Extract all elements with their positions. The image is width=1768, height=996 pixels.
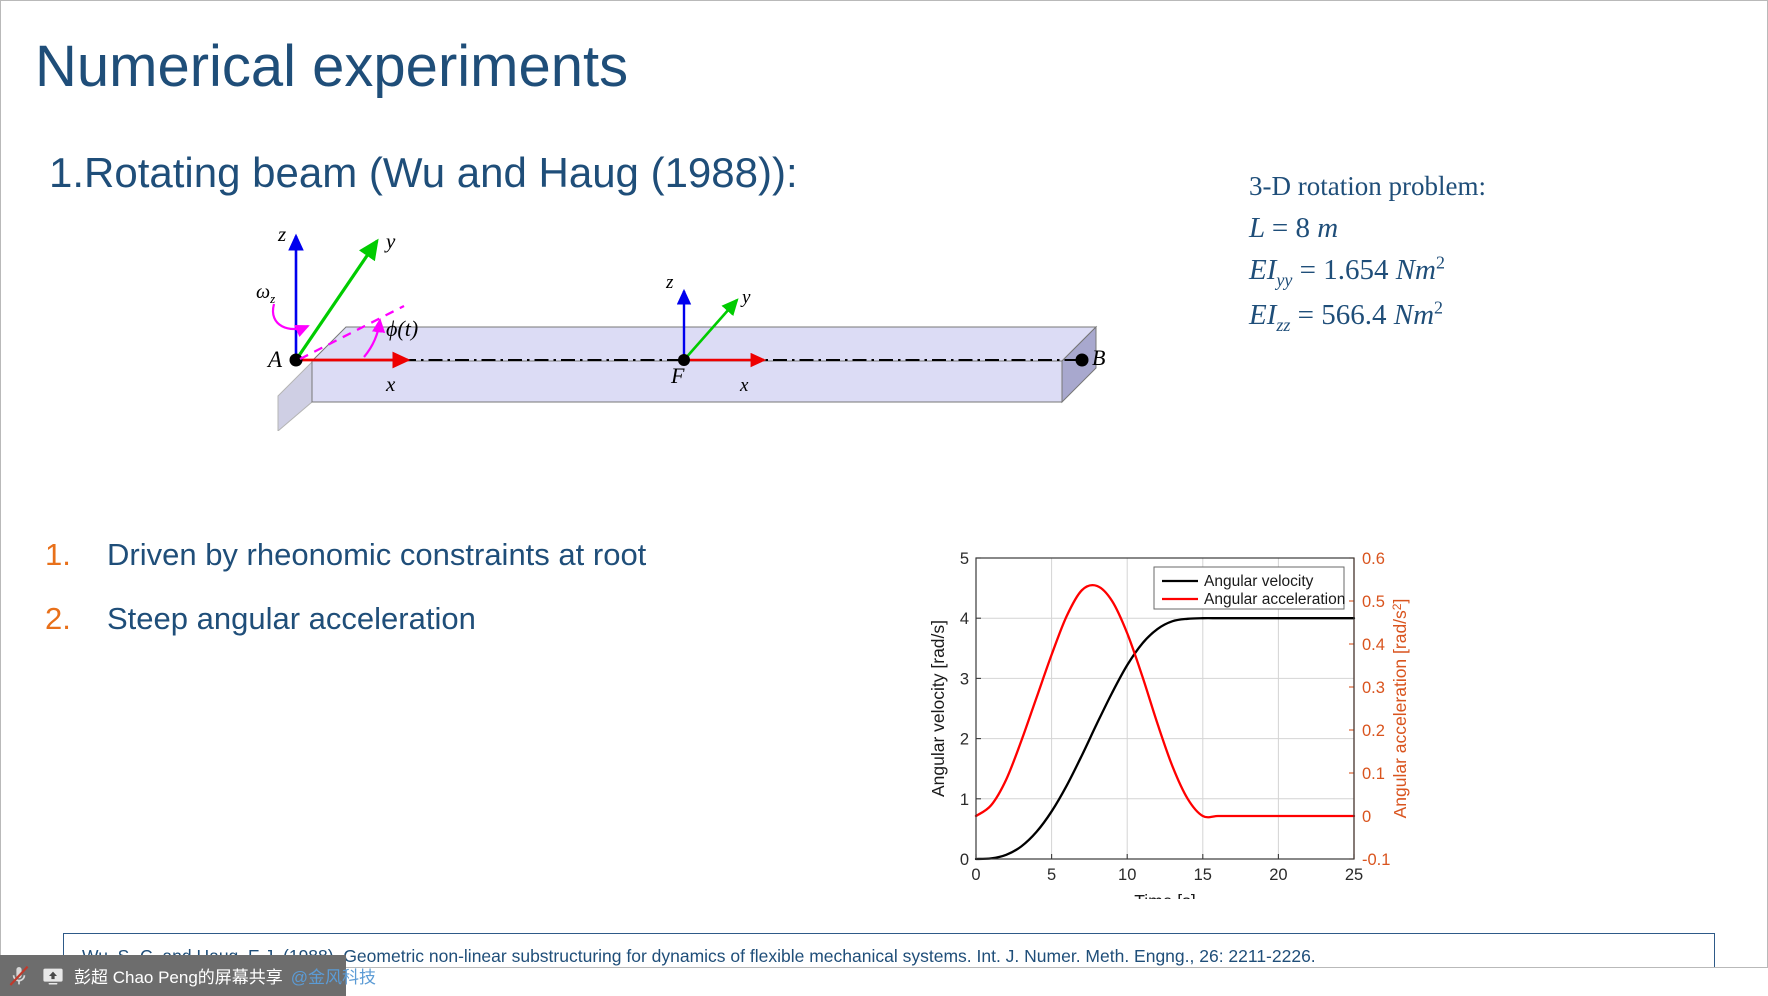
label-omega-z: ωz	[256, 281, 275, 306]
ytick-label-right: 0.6	[1362, 550, 1385, 568]
equation-unit: Nm	[1396, 254, 1436, 286]
equation-value: 8	[1295, 212, 1310, 244]
ytick-label-left: 0	[960, 851, 969, 869]
label-point-a: A	[266, 347, 283, 372]
equation-ei-zz: EIzz = 566.4 Nm2	[1249, 296, 1486, 338]
bullet-number: 2.	[45, 601, 107, 637]
equation-ei-yy: EIyy = 1.654 Nm2	[1249, 251, 1486, 293]
ytick-label-right: -0.1	[1362, 851, 1390, 869]
equation-value: 566.4	[1321, 299, 1386, 331]
equation-lhs: L	[1249, 212, 1265, 244]
series-line-1	[976, 585, 1354, 817]
equation-unit-exponent: 2	[1436, 252, 1445, 272]
microphone-muted-icon[interactable]	[6, 963, 32, 989]
x-axis-title: Time [s]	[1134, 891, 1196, 899]
xtick-label: 0	[971, 866, 980, 884]
section-subtitle: 1.Rotating beam (Wu and Haug (1988)):	[49, 149, 798, 197]
equation-unit: Nm	[1394, 299, 1434, 331]
y-axis-title-right: Angular acceleration [rad/s2]	[1390, 599, 1410, 819]
equation-lhs-subscript: yy	[1276, 270, 1292, 290]
label-mid-y: y	[740, 287, 751, 308]
xtick-label: 25	[1345, 866, 1363, 884]
ytick-label-left: 1	[960, 791, 969, 809]
ytick-label-right: 0.5	[1362, 593, 1385, 611]
equation-value: 1.654	[1323, 254, 1388, 286]
legend-label-0: Angular velocity	[1204, 573, 1314, 590]
equation-unit: m	[1317, 212, 1338, 244]
point-b-marker	[1076, 354, 1089, 367]
bullet-list: 1. Driven by rheonomic constraints at ro…	[45, 537, 646, 665]
label-root-y: y	[384, 229, 396, 253]
slide-canvas: Numerical experiments 1.Rotating beam (W…	[0, 0, 1768, 968]
list-item: 2. Steep angular acceleration	[45, 601, 646, 637]
ytick-label-left: 4	[960, 610, 969, 628]
rotating-beam-diagram: A F B z y x z y x ωz ϕ(t)	[256, 216, 1136, 431]
xtick-label: 20	[1269, 866, 1287, 884]
parameter-block: 3-D rotation problem: L = 8 m EIyy = 1.6…	[1249, 169, 1486, 338]
label-mid-x: x	[739, 375, 749, 396]
equation-lhs-subscript: zz	[1276, 315, 1290, 335]
page-title: Numerical experiments	[35, 33, 628, 100]
ytick-label-left: 5	[960, 550, 969, 568]
legend-label-1: Angular acceleration	[1204, 591, 1345, 608]
chart-legend: Angular velocityAngular acceleration	[1154, 567, 1345, 609]
ytick-label-left: 3	[960, 670, 969, 688]
label-root-z: z	[277, 222, 286, 246]
screen-share-icon[interactable]	[40, 963, 66, 989]
screen-share-taskbar[interactable]: 彭超 Chao Peng的屏幕共享 @金风科技	[0, 955, 346, 996]
bullet-label: Driven by rheonomic constraints at root	[107, 537, 646, 573]
bullet-number: 1.	[45, 537, 107, 573]
label-phi-t: ϕ(t)	[386, 316, 418, 341]
parameter-heading: 3-D rotation problem:	[1249, 169, 1486, 205]
ytick-label-right: 0.3	[1362, 679, 1385, 697]
angular-motion-chart: 0510152025012345-0.100.10.20.30.40.50.6T…	[926, 539, 1446, 899]
ytick-label-left: 2	[960, 731, 969, 749]
screen-share-label: 彭超 Chao Peng的屏幕共享	[74, 963, 283, 988]
ytick-label-right: 0.2	[1362, 722, 1385, 740]
screen-share-tag: @金风科技	[291, 963, 376, 988]
chart-series-lines	[976, 585, 1354, 859]
equation-lhs: EI	[1249, 254, 1276, 286]
label-point-f: F	[670, 363, 685, 388]
label-root-x: x	[385, 372, 396, 396]
bullet-label: Steep angular acceleration	[107, 601, 476, 637]
y-axis-title-left: Angular velocity [rad/s]	[928, 620, 948, 797]
omega-z-arc	[273, 304, 308, 329]
ytick-label-right: 0.4	[1362, 636, 1385, 654]
xtick-label: 5	[1047, 866, 1056, 884]
list-item: 1. Driven by rheonomic constraints at ro…	[45, 537, 646, 573]
ytick-label-right: 0.1	[1362, 765, 1385, 783]
xtick-label: 10	[1118, 866, 1136, 884]
equation-lhs: EI	[1249, 299, 1276, 331]
label-mid-z: z	[665, 272, 674, 293]
xtick-label: 15	[1194, 866, 1212, 884]
equation-length: L = 8 m	[1249, 209, 1486, 247]
ytick-label-right: 0	[1362, 808, 1371, 826]
equation-unit-exponent: 2	[1434, 298, 1443, 318]
label-point-b: B	[1092, 345, 1105, 370]
